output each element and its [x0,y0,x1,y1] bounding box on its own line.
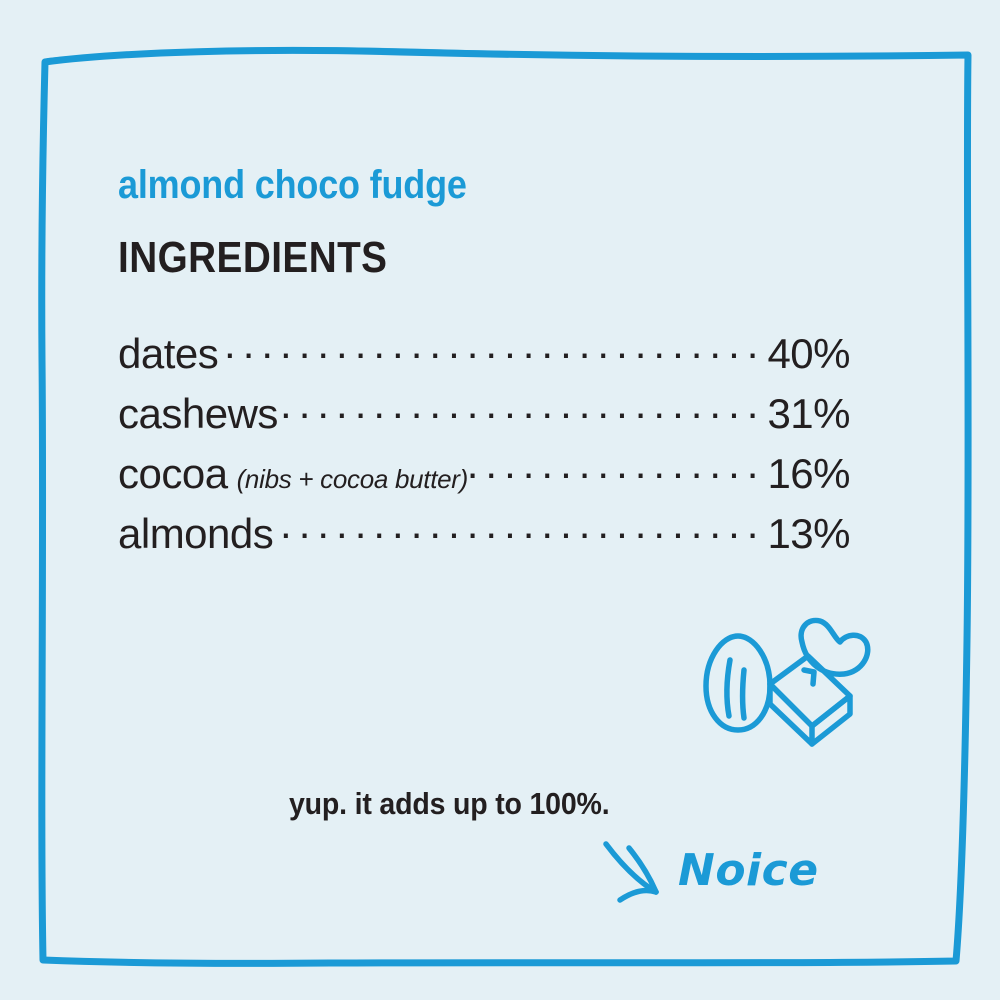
cashew-icon [801,620,868,674]
ingredient-percent: 13% [767,510,850,558]
ingredient-note: (nibs + cocoa butter) [237,464,468,495]
list-item: cashews 31% [118,390,850,450]
dot-leader [470,472,765,488]
ingredients-illustration [692,612,878,778]
ingredient-name: dates [118,330,218,378]
ingredient-name: almonds [118,510,273,558]
dot-leader [280,412,766,428]
page-title: INGREDIENTS [118,233,387,283]
handwritten-note: Noice [678,845,819,896]
list-item: cocoa (nibs + cocoa butter) 16% [118,450,850,510]
almond-icon [706,636,770,730]
ingredient-name: cashews [118,390,278,438]
ingredients-card: almond choco fudge INGREDIENTS dates 40%… [0,0,1000,1000]
ingredients-list: dates 40% cashews 31% cocoa (nibs + coco… [118,330,850,570]
dot-leader [220,352,765,368]
list-item: almonds 13% [118,510,850,570]
ingredient-percent: 31% [767,390,850,438]
dot-leader [275,532,765,548]
footnote: yup. it adds up to 100%. [289,786,609,822]
ingredient-percent: 40% [767,330,850,378]
curved-arrow-icon [598,836,678,908]
list-item: dates 40% [118,330,850,390]
ingredient-percent: 16% [767,450,850,498]
flavor-title: almond choco fudge [118,163,467,208]
ingredient-name: cocoa [118,450,228,498]
